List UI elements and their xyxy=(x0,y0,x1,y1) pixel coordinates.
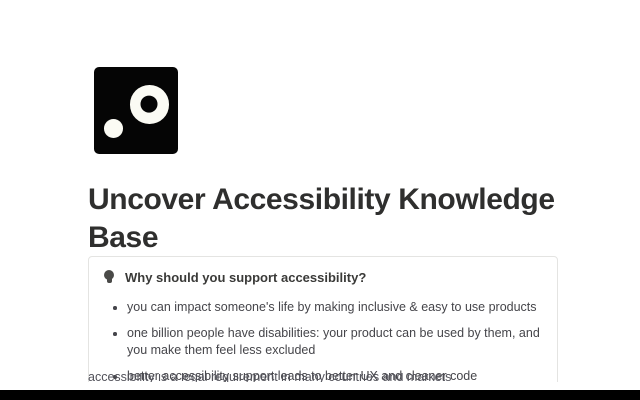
clipped-text-strip: accessibility is a legal requirement in … xyxy=(0,373,640,390)
callout-header: Why should you support accessibility? xyxy=(103,267,543,290)
list-item: you can impact someone's life by making … xyxy=(103,299,543,316)
lightbulb-base xyxy=(107,277,112,283)
clip-mask xyxy=(0,382,640,390)
lightbulb-icon xyxy=(103,270,115,286)
page-title: Uncover Accessibility Knowledge Base xyxy=(88,181,558,257)
list-item: one billion people have disabilities: yo… xyxy=(103,325,543,359)
page-root: Uncover Accessibility Knowledge Base Why… xyxy=(0,0,640,400)
bottom-black-bar xyxy=(0,390,640,400)
logo-dot-shape xyxy=(104,119,123,138)
callout-title: Why should you support accessibility? xyxy=(125,269,366,286)
logo-ring-shape xyxy=(130,85,169,123)
uncover-logo-mark xyxy=(94,67,178,154)
